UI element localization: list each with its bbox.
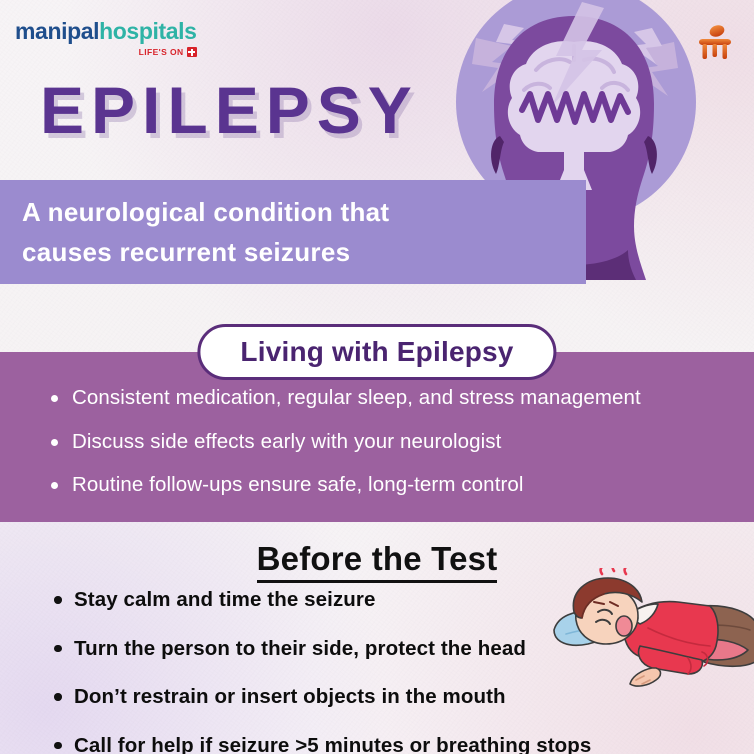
medical-cross-icon <box>187 47 197 57</box>
subtitle-line-1: A neurological condition that <box>22 192 564 232</box>
logo-tagline: LIFE'S ON <box>15 47 197 57</box>
epilepsy-infographic-poster: manipalhospitals LIFE'S ON EPILEPSY A ne… <box>0 0 754 754</box>
list-item: Consistent medication, regular sleep, an… <box>48 388 754 409</box>
list-item: Call for help if seizure >5 minutes or b… <box>52 736 754 754</box>
manipal-hospitals-logo[interactable]: manipalhospitals LIFE'S ON <box>15 20 197 57</box>
logo-word-manipal: manipal <box>15 18 99 44</box>
logo-word-hospitals: hospitals <box>99 18 196 44</box>
living-with-epilepsy-pill: Living with Epilepsy <box>197 324 556 380</box>
subtitle-line-2: causes recurrent seizures <box>22 232 564 272</box>
person-lying-on-side-seizure-icon <box>552 568 754 708</box>
list-item: Discuss side effects early with your neu… <box>48 432 754 453</box>
list-item: Routine follow-ups ensure safe, long-ter… <box>48 475 754 496</box>
subtitle-band: A neurological condition that causes rec… <box>0 180 586 284</box>
manipal-brandmark-icon <box>692 22 736 66</box>
before-the-test-heading-label: Before the Test <box>257 540 498 583</box>
logo-tagline-text: LIFE'S ON <box>139 47 184 57</box>
logo-wordmark: manipalhospitals <box>15 20 197 43</box>
living-with-epilepsy-pill-label: Living with Epilepsy <box>240 338 513 366</box>
page-title: EPILEPSY <box>40 77 419 143</box>
